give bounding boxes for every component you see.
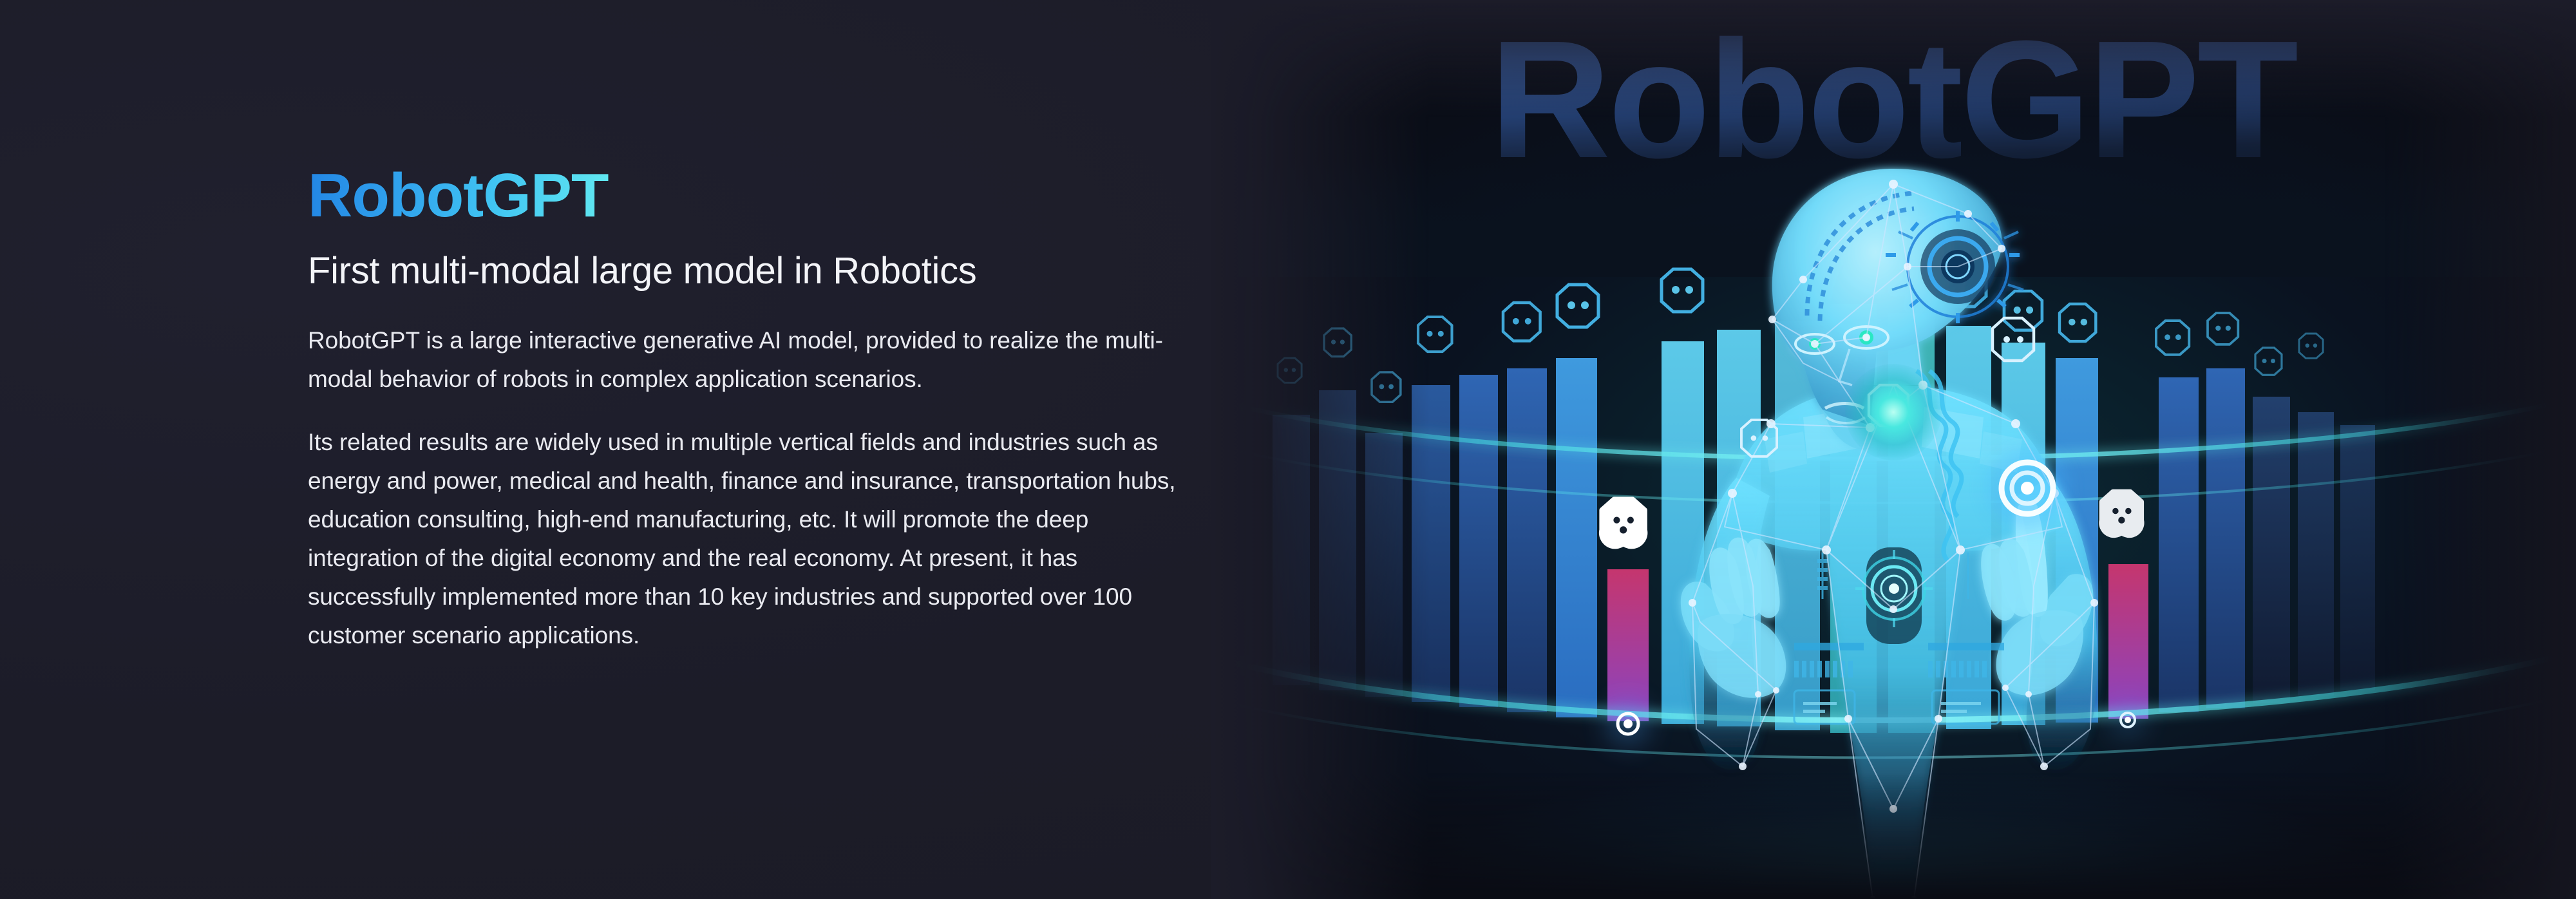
robot-face-icon [2255,348,2282,375]
description-paragraph-1: RobotGPT is a large interactive generati… [308,321,1203,399]
robot-face-icon [1503,303,1540,341]
humanoid-robot-figure [1610,158,2177,899]
page-subtitle: First multi-modal large model in Robotic… [308,249,1222,293]
hero-illustration: RobotGPT [1211,0,2576,899]
robot-face-icon [1993,318,2034,361]
copy-block: RobotGPT First multi-modal large model i… [308,164,1222,655]
page-title: RobotGPT [308,164,609,227]
robot-face-icon [2208,313,2238,345]
robot-face-icon [1418,317,1452,352]
fingertip-ring [1987,448,2067,528]
robot-face-icon [2299,334,2323,358]
robot-face-icon [1278,358,1302,383]
description-paragraph-2: Its related results are widely used in m… [308,423,1203,655]
robotgpt-hero-banner: RobotGPT First multi-modal large model i… [0,0,2576,899]
robot-face-icon [1324,328,1351,357]
robot-face-icon [1557,285,1598,327]
robot-face-icon [1372,372,1401,402]
